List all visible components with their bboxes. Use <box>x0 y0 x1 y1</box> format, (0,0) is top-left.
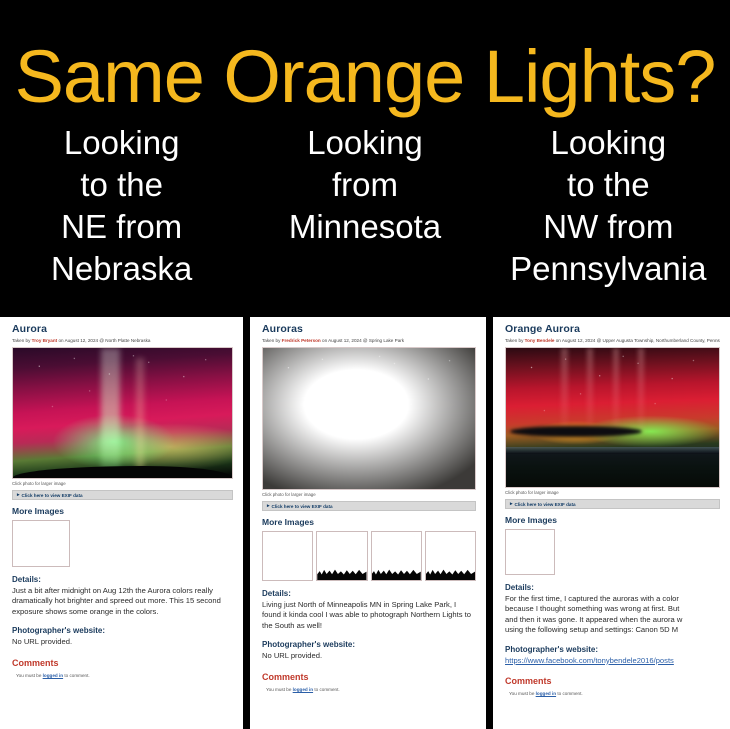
thumbnail[interactable] <box>425 531 476 581</box>
stars-overlay <box>13 348 232 478</box>
details-line: For the first time, I captured the auror… <box>505 594 720 604</box>
details-line: and then it was gone. It appeared when t… <box>505 615 720 625</box>
comments-note-pre: You must be <box>509 691 536 696</box>
details-heading: Details: <box>12 574 233 585</box>
caption-line: to the <box>80 164 163 206</box>
caption-line: Looking <box>551 122 667 164</box>
website-heading: Photographer's website: <box>262 639 476 650</box>
caption-line: NW from <box>543 206 673 248</box>
chevron-right-icon: ▸ <box>267 503 270 509</box>
panel-title: Auroras <box>262 323 476 336</box>
aurora-ray <box>638 348 644 434</box>
details-text: Just a bit after midnight on Aug 12th th… <box>12 586 233 617</box>
comments-note: You must be logged in to comment. <box>509 690 720 697</box>
thumbnail-row <box>12 520 233 567</box>
caption-column-minnesota: Looking from Minnesota <box>243 122 486 312</box>
login-link[interactable]: logged in <box>293 687 313 692</box>
login-link[interactable]: logged in <box>536 691 556 696</box>
panel-byline: Taken by Tony Bendele on August 12, 2024… <box>505 337 720 344</box>
byline-prefix: Taken by <box>505 338 525 343</box>
comments-heading: Comments <box>12 657 233 669</box>
comments-note-post: to comment. <box>313 687 340 692</box>
byline-suffix: on August 12, 2024 @ North Platte Nebras… <box>57 338 150 343</box>
caption-column-pennsylvania: Looking to the NW from Pennsylvania <box>487 122 730 312</box>
aurora-ray <box>561 348 567 434</box>
thumbnail[interactable] <box>316 531 367 581</box>
website-value: No URL provided. <box>12 637 233 647</box>
author-link[interactable]: Fredrick Peterson <box>282 338 321 343</box>
comments-note-post: to comment. <box>63 673 90 678</box>
comments-note: You must be logged in to comment. <box>266 686 476 693</box>
distant-horizon <box>506 447 719 454</box>
foreground-field <box>506 454 719 487</box>
comments-heading: Comments <box>262 671 476 683</box>
aurora-beam-secondary <box>136 358 145 470</box>
photo-caption: Click photo for larger image <box>262 491 476 499</box>
byline-suffix: on August 12, 2024 @ Spring Lake Park <box>321 338 404 343</box>
panel-title: Aurora <box>12 323 233 336</box>
exif-label: Click here to view EXIF data <box>272 504 333 509</box>
thumbnail[interactable] <box>371 531 422 581</box>
title-banner: Same Orange Lights? Looking to the NE fr… <box>0 0 730 317</box>
photo-caption: Click photo for larger image <box>12 480 233 488</box>
tree-silhouette <box>426 566 475 580</box>
page-title: Same Orange Lights? <box>0 34 730 120</box>
aurora-ray <box>587 348 593 434</box>
comments-note-pre: You must be <box>266 687 293 692</box>
thumbnail-row <box>262 531 476 581</box>
comments-note: You must be logged in to comment. <box>16 672 233 679</box>
chevron-right-icon: ▸ <box>17 492 20 498</box>
caption-line: Looking <box>64 122 180 164</box>
hero-photo[interactable] <box>262 347 476 490</box>
comments-heading: Comments <box>505 675 720 687</box>
more-images-heading: More Images <box>12 505 233 517</box>
caption-line: Looking <box>307 122 423 164</box>
comments-note-pre: You must be <box>16 673 43 678</box>
cloud-band <box>510 426 642 437</box>
details-text: Living just North of Minneapolis MN in S… <box>262 600 476 631</box>
website-heading: Photographer's website: <box>12 625 233 636</box>
photo-panel-aurora-nebraska: Aurora Taken by Troy Bryant on August 12… <box>0 317 243 729</box>
photo-caption: Click photo for larger image <box>505 489 720 497</box>
website-value: No URL provided. <box>262 651 476 661</box>
photo-panel-orange-aurora-pennsylvania: Orange Aurora Taken by Tony Bendele on A… <box>493 317 730 729</box>
byline-prefix: Taken by <box>262 338 282 343</box>
details-heading: Details: <box>262 588 476 599</box>
aurora-comparison-meme: Same Orange Lights? Looking to the NE fr… <box>0 0 730 729</box>
details-heading: Details: <box>505 582 720 593</box>
panel-byline: Taken by Fredrick Peterson on August 12,… <box>262 337 476 344</box>
caption-line: NE from <box>61 206 182 248</box>
website-link[interactable]: https://www.facebook.com/tonybendele2016… <box>505 656 720 666</box>
more-images-heading: More Images <box>505 514 720 526</box>
caption-line: Minnesota <box>289 206 441 248</box>
caption-row: Looking to the NE from Nebraska Looking … <box>0 122 730 312</box>
login-link[interactable]: logged in <box>43 673 63 678</box>
panel-byline: Taken by Troy Bryant on August 12, 2024 … <box>12 337 233 344</box>
aurora-beam <box>101 348 121 473</box>
exif-data-bar[interactable]: ▸ Click here to view EXIF data <box>505 499 720 509</box>
byline-prefix: Taken by <box>12 338 32 343</box>
exif-label: Click here to view EXIF data <box>22 493 83 498</box>
thumbnail[interactable] <box>12 520 70 567</box>
comments-note-post: to comment. <box>556 691 583 696</box>
exif-data-bar[interactable]: ▸ Click here to view EXIF data <box>262 501 476 511</box>
author-link[interactable]: Troy Bryant <box>32 338 58 343</box>
tree-silhouette <box>317 566 366 580</box>
chevron-right-icon: ▸ <box>510 501 513 507</box>
panel-title: Orange Aurora <box>505 323 720 336</box>
thumbnail-row <box>505 529 720 575</box>
caption-line: Pennsylvania <box>510 248 706 290</box>
thumbnail[interactable] <box>262 531 313 581</box>
photo-panel-auroras-minnesota: Auroras Taken by Fredrick Peterson on Au… <box>250 317 486 729</box>
hero-photo[interactable] <box>505 347 720 488</box>
more-images-heading: More Images <box>262 516 476 528</box>
website-heading: Photographer's website: <box>505 644 720 655</box>
screenshot-panel-row: Aurora Taken by Troy Bryant on August 12… <box>0 317 730 729</box>
caption-line: Nebraska <box>51 248 192 290</box>
stars-overlay <box>263 348 475 489</box>
details-line: because I thought something was wrong at… <box>505 604 720 614</box>
exif-label: Click here to view EXIF data <box>515 502 576 507</box>
details-line: using the following setup and settings: … <box>505 625 720 635</box>
caption-column-nebraska: Looking to the NE from Nebraska <box>0 122 243 312</box>
aurora-ray <box>613 348 619 434</box>
exif-data-bar[interactable]: ▸ Click here to view EXIF data <box>12 490 233 500</box>
byline-suffix: on August 12, 2024 @ Upper Augusta Towns… <box>554 338 720 343</box>
caption-line: to the <box>567 164 650 206</box>
hero-photo[interactable] <box>12 347 233 479</box>
caption-line: from <box>332 164 398 206</box>
thumbnail[interactable] <box>505 529 555 575</box>
author-link[interactable]: Tony Bendele <box>525 338 555 343</box>
details-text: For the first time, I captured the auror… <box>505 594 720 636</box>
